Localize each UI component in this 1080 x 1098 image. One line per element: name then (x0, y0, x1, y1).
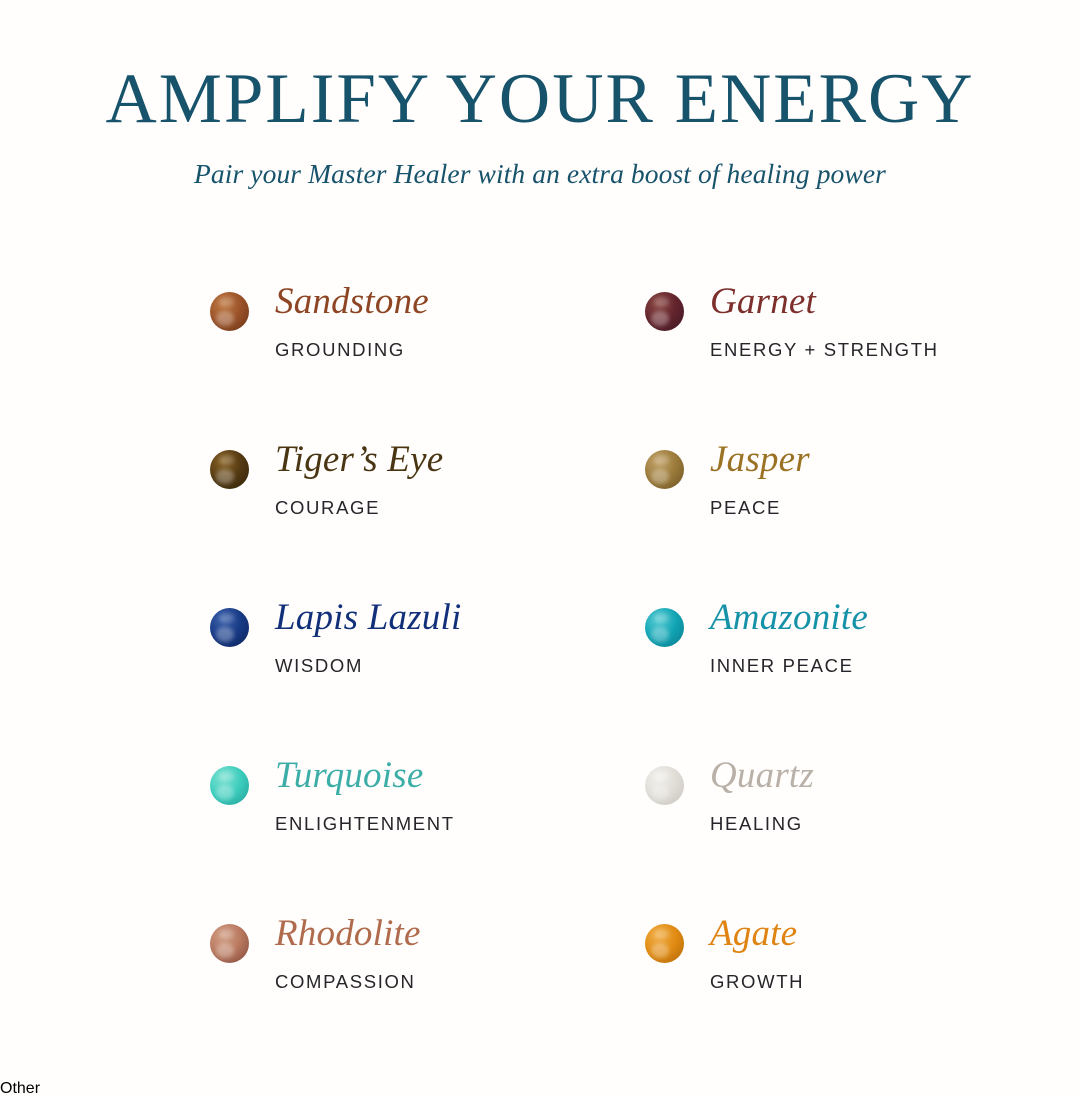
gemstone-bead-icon (645, 924, 684, 963)
gemstone-bead-icon (210, 608, 249, 647)
stone-meaning: INNER PEACE (710, 655, 854, 677)
stone-meaning: PEACE (710, 497, 781, 519)
stone-item[interactable]: GarnetENERGY + STRENGTH (645, 266, 1080, 424)
stone-item[interactable]: TurquoiseENLIGHTENMENT (210, 740, 645, 898)
stone-meaning: WISDOM (275, 655, 363, 677)
stone-item[interactable]: JasperPEACE (645, 424, 1080, 582)
stone-name: Rhodolite (275, 915, 421, 952)
stone-meaning: GROWTH (710, 971, 804, 993)
stone-name: Garnet (710, 283, 816, 320)
gemstone-bead-icon (210, 766, 249, 805)
stone-item[interactable]: AmazoniteINNER PEACE (645, 582, 1080, 740)
stone-name: Quartz (710, 757, 814, 794)
stone-item[interactable]: AgateGROWTH (645, 898, 1080, 1056)
stone-name: Turquoise (275, 757, 423, 794)
gemstone-bead-icon (645, 292, 684, 331)
stone-meaning: COMPASSION (275, 971, 416, 993)
header: AMPLIFY YOUR ENERGY Pair your Master Hea… (0, 0, 1080, 190)
stone-name: Agate (710, 915, 797, 952)
gemstone-bead-icon (210, 450, 249, 489)
stone-meaning: ENLIGHTENMENT (275, 813, 455, 835)
page-subtitle: Pair your Master Healer with an extra bo… (0, 137, 1080, 190)
gemstone-bead-icon (210, 292, 249, 331)
stone-name: Sandstone (275, 283, 429, 320)
stone-meaning: HEALING (710, 813, 803, 835)
stone-name: Lapis Lazuli (275, 599, 461, 636)
gemstone-bead-icon (645, 608, 684, 647)
stone-meaning: COURAGE (275, 497, 380, 519)
stone-item[interactable]: SandstoneGROUNDING (210, 266, 645, 424)
stone-meaning: ENERGY + STRENGTH (710, 339, 939, 361)
stone-grid: SandstoneGROUNDINGGarnetENERGY + STRENGT… (0, 266, 1080, 1056)
gemstone-bead-icon (645, 766, 684, 805)
stone-name: Tiger’s Eye (275, 441, 443, 478)
stone-item[interactable]: RhodoliteCOMPASSION (210, 898, 645, 1056)
stone-name: Jasper (710, 441, 810, 478)
page-title: AMPLIFY YOUR ENERGY (0, 0, 1080, 137)
stone-item[interactable]: Lapis LazuliWISDOM (210, 582, 645, 740)
gemstone-bead-icon (645, 450, 684, 489)
stone-item[interactable]: Tiger’s EyeCOURAGE (210, 424, 645, 582)
amplify-your-energy-graphic: AMPLIFY YOUR ENERGY Pair your Master Hea… (0, 0, 1080, 1080)
stone-item[interactable]: QuartzHEALING (645, 740, 1080, 898)
stone-meaning: GROUNDING (275, 339, 405, 361)
gemstone-bead-icon (210, 924, 249, 963)
stone-name: Amazonite (710, 599, 868, 636)
